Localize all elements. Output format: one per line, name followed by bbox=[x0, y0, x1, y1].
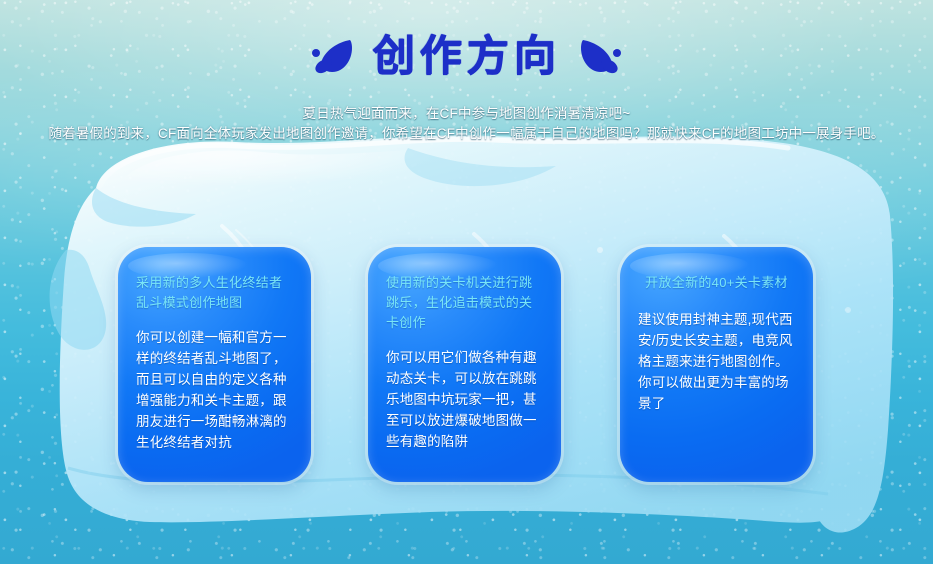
feature-card-1-heading: 采用新的多人生化终结者乱斗模式创作地图 bbox=[136, 273, 293, 313]
feature-card-2-body: 你可以用它们做各种有趣动态关卡，可以放在跳跳乐地图中坑玩家一把，甚至可以放进爆破… bbox=[386, 347, 543, 452]
feature-card-list: 采用新的多人生化终结者乱斗模式创作地图 你可以创建一幅和官方一样的终结者乱斗地图… bbox=[0, 0, 933, 564]
feature-card-3-body: 建议使用封神主题,现代西安/历史长安主题，电竞风格主题来进行地图创作。你可以做出… bbox=[638, 309, 795, 414]
feature-card-3-heading: 开放全新的40+关卡素材 bbox=[638, 273, 795, 293]
feature-card-1[interactable]: 采用新的多人生化终结者乱斗模式创作地图 你可以创建一幅和官方一样的终结者乱斗地图… bbox=[118, 247, 311, 482]
promo-banner: 创作方向 夏日热气迎面而来，在CF中参与地图创作消暑清凉吧~ 随着暑假的到来，C… bbox=[0, 0, 933, 564]
feature-card-1-body: 你可以创建一幅和官方一样的终结者乱斗地图了，而且可以自由的定义各种增强能力和关卡… bbox=[136, 327, 293, 453]
feature-card-3[interactable]: 开放全新的40+关卡素材 建议使用封神主题,现代西安/历史长安主题，电竞风格主题… bbox=[620, 247, 813, 482]
feature-card-2-heading: 使用新的关卡机关进行跳跳乐，生化追击模式的关卡创作 bbox=[386, 273, 543, 333]
feature-card-2[interactable]: 使用新的关卡机关进行跳跳乐，生化追击模式的关卡创作 你可以用它们做各种有趣动态关… bbox=[368, 247, 561, 482]
